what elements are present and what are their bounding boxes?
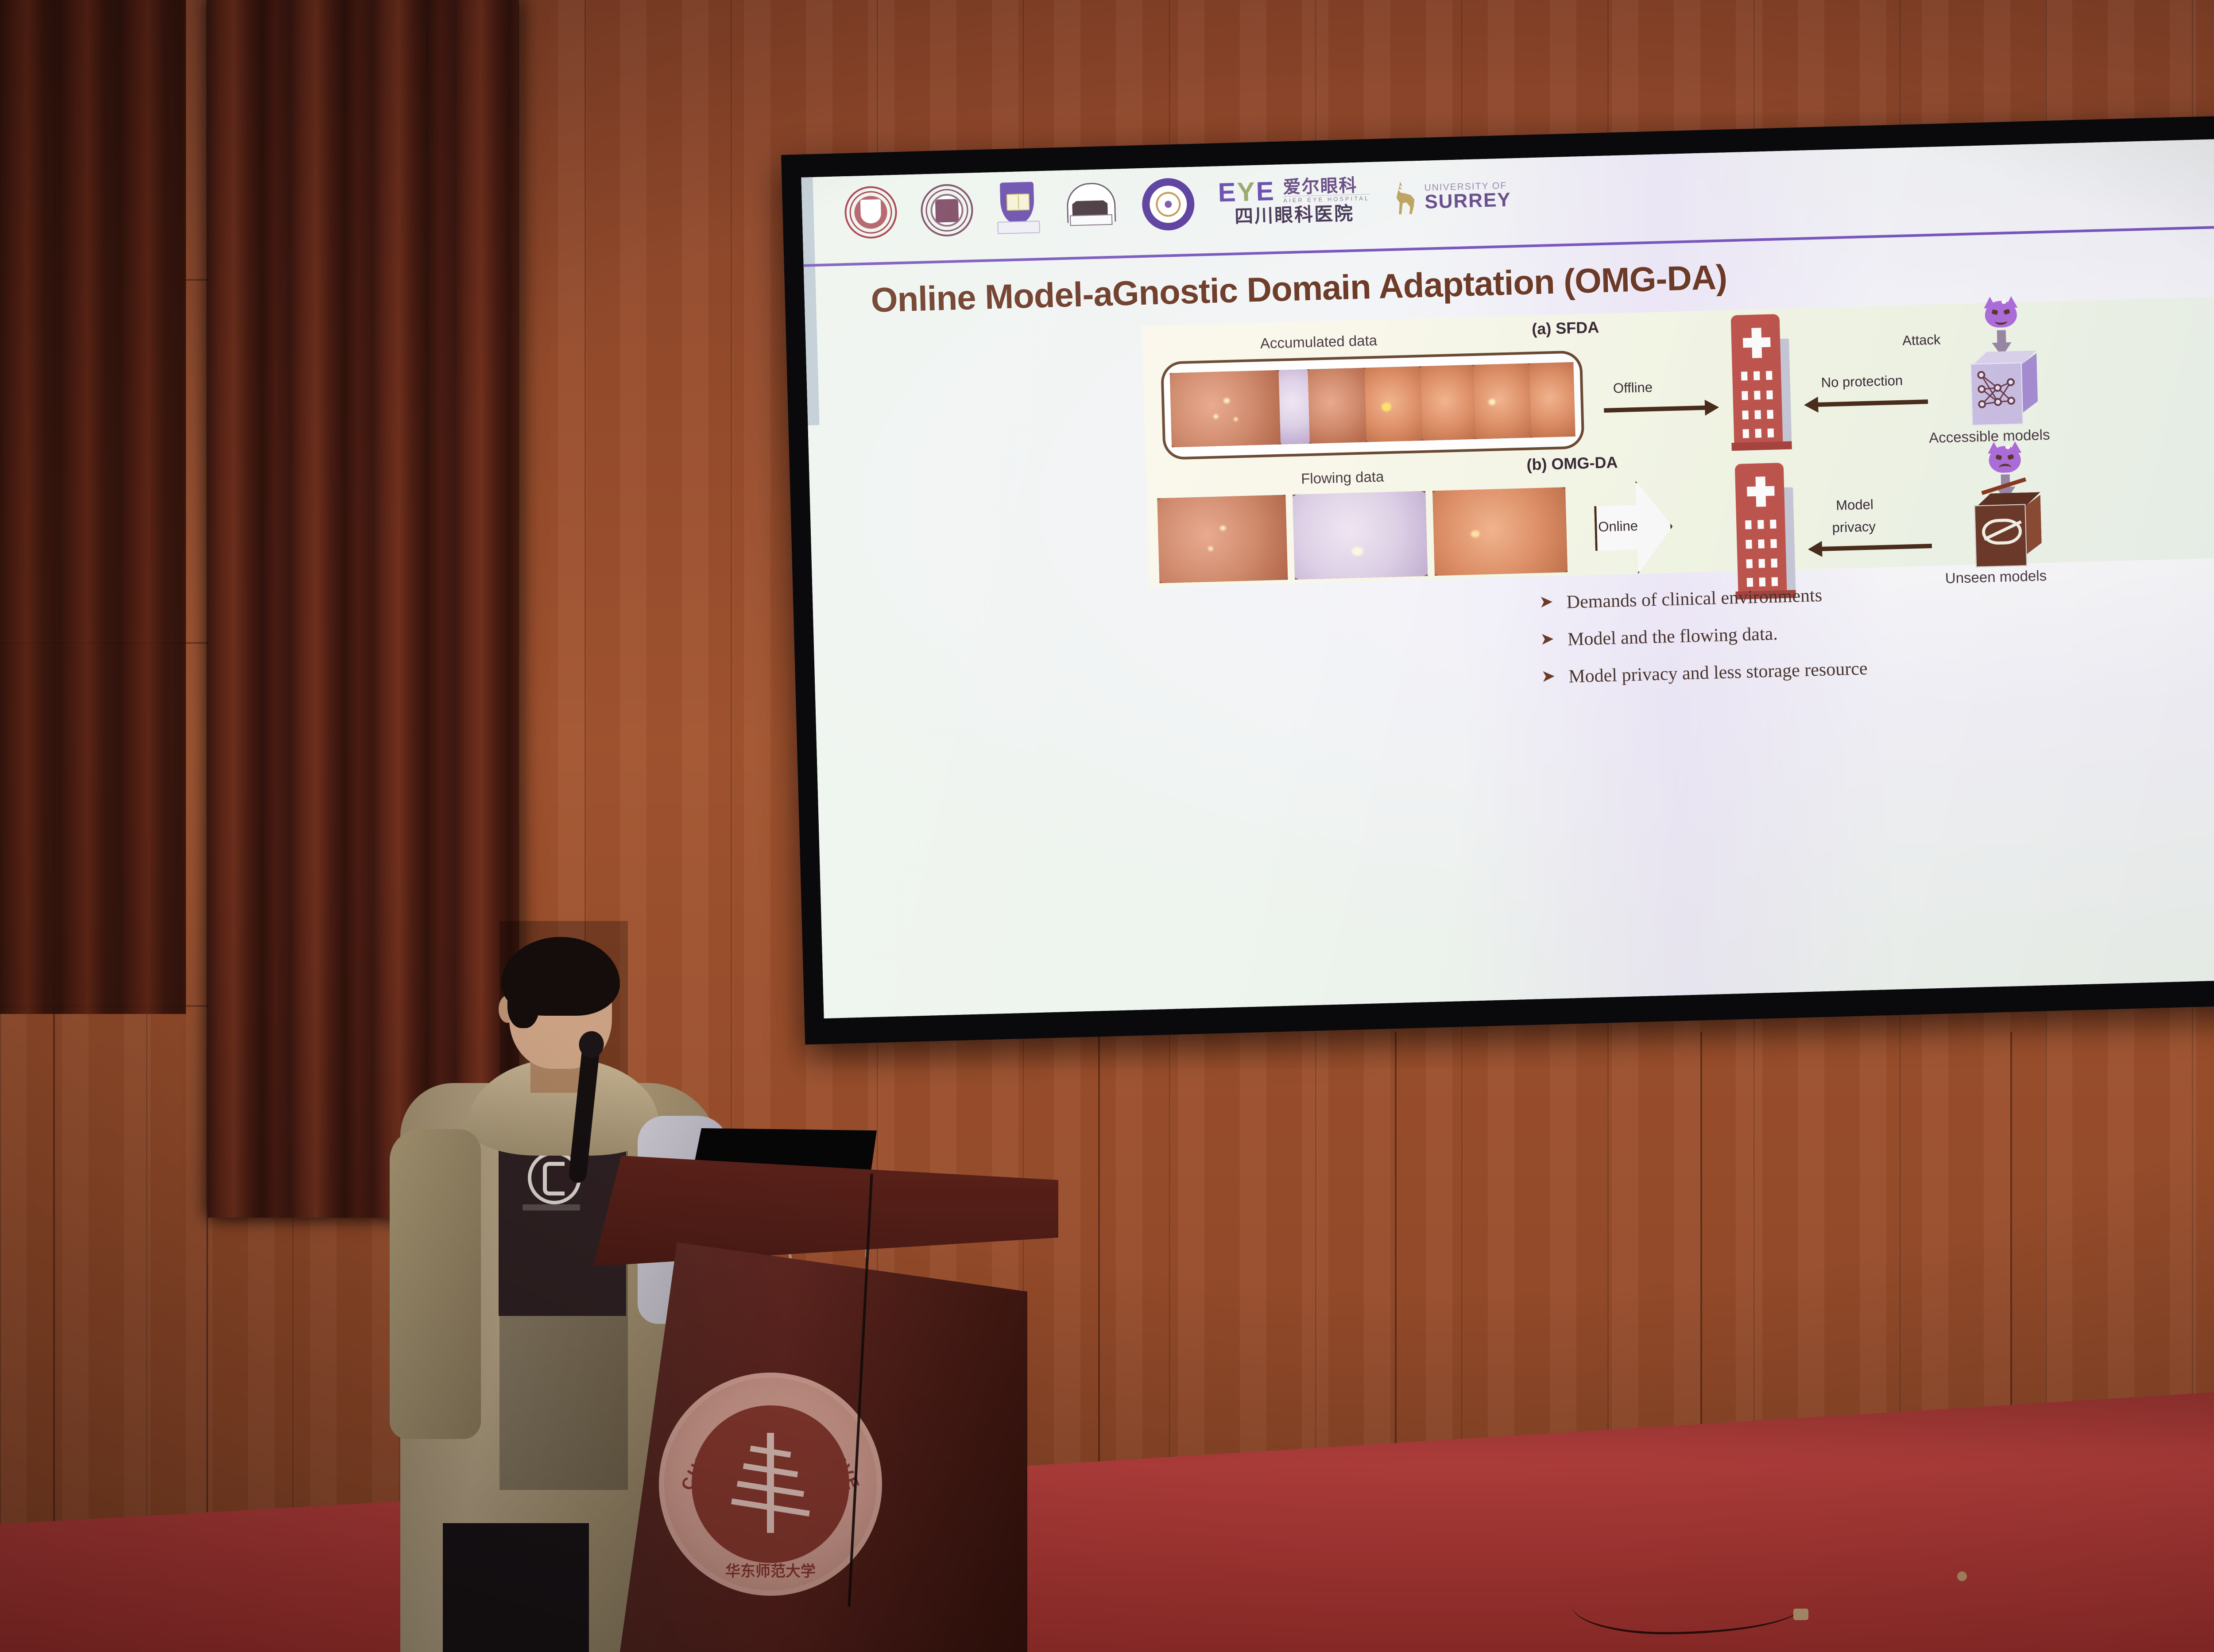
- accumulated-data-caption: Accumulated data: [1260, 332, 1377, 352]
- bullet-text: Model privacy and less storage resource: [1568, 659, 1868, 686]
- model-privacy-label-2: privacy: [1832, 518, 1876, 536]
- fundus-image: [1364, 366, 1422, 442]
- eye-wordmark: EYE: [1218, 178, 1276, 206]
- logo-aier-eye-hospital: EYE 爱尔眼科 AIER EYE HOSPITAL 四川眼科医院: [1218, 175, 1370, 226]
- angry-cat-icon: [1986, 441, 2024, 475]
- logo-shanghai-jiao-tong: [844, 186, 898, 239]
- projection-screen-frame: EYE 爱尔眼科 AIER EYE HOSPITAL 四川眼科医院: [781, 101, 2214, 1045]
- panel-a-label: (a) SFDA: [1532, 318, 1599, 338]
- fundus-image: [1308, 368, 1366, 444]
- stag-icon: [1393, 181, 1419, 214]
- podium: EAST CHINA NORMAL UNIVERSITY 华东师范大学: [593, 1156, 1058, 1652]
- logo-university-seal-dark: [920, 183, 974, 237]
- slide-canvas: EYE 爱尔眼科 AIER EYE HOSPITAL 四川眼科医院: [801, 124, 2214, 1018]
- list-item: ➤ Model and the flowing data.: [1540, 622, 1867, 650]
- tree-emblem-icon: [728, 1431, 813, 1537]
- sichuan-eye-hospital-label: 四川眼科医院: [1235, 204, 1355, 226]
- bullet-text: Model and the flowing data.: [1568, 625, 1778, 649]
- university-emblem: EAST CHINA NORMAL UNIVERSITY 华东师范大学: [659, 1373, 882, 1596]
- presentation-photo: EYE 爱尔眼科 AIER EYE HOSPITAL 四川眼科医院: [0, 0, 2214, 1652]
- list-item: ➤ Model privacy and less storage resourc…: [1541, 659, 1868, 687]
- online-label: Online: [1598, 518, 1638, 535]
- smiling-cat-icon: [1982, 296, 2020, 329]
- panel-b-label: (b) OMG-DA: [1526, 453, 1618, 474]
- fundus-image: [1420, 365, 1475, 441]
- no-protection-label: No protection: [1821, 373, 1903, 391]
- eye-off-icon: [1982, 518, 2022, 545]
- emblem-cn-text: 华东师范大学: [664, 1559, 877, 1581]
- stage-curtain-edge: [0, 0, 186, 1014]
- partner-logo-row: EYE 爱尔眼科 AIER EYE HOSPITAL 四川眼科医院: [844, 169, 1512, 239]
- fundus-image: [1529, 362, 1575, 438]
- aier-cn-label: 爱尔眼科: [1283, 176, 1370, 196]
- fundus-image: [1157, 495, 1288, 583]
- presenter-left-sleeve: [390, 1129, 481, 1439]
- accumulated-data-container: [1161, 350, 1585, 460]
- logo-university-of-surrey: UNIVERSITY OF SURREY: [1393, 178, 1511, 214]
- fundus-strip-accumulated: [1170, 362, 1575, 448]
- logo-gate-crest: [1061, 179, 1119, 233]
- fundus-image: [1473, 363, 1531, 439]
- unseen-models-caption: Unseen models: [1945, 567, 2047, 587]
- projection-screen: EYE 爱尔眼科 AIER EYE HOSPITAL 四川眼科医院: [801, 124, 2214, 1018]
- concept-diagram: (a) SFDA Accumulated data: [1142, 297, 2214, 587]
- tshirt-sublabel: [523, 1204, 580, 1211]
- fundus-image: [1279, 369, 1310, 445]
- model-privacy-arrow: [1821, 544, 1932, 551]
- neural-network-icon: [1976, 369, 2016, 410]
- attack-label: Attack: [1902, 332, 1941, 348]
- bullet-marker-icon: ➤: [1539, 593, 1553, 611]
- logo-uestc: [1142, 178, 1195, 231]
- model-privacy-label-1: Model: [1836, 497, 1873, 514]
- accessible-models-box: [1970, 350, 2038, 424]
- unseen-models-box: [1974, 492, 2042, 565]
- fundus-image: [1293, 491, 1428, 580]
- bullet-marker-icon: ➤: [1541, 668, 1556, 685]
- floor-marker: [1957, 1571, 1967, 1581]
- fundus-image: [1170, 370, 1281, 448]
- cable-connector: [1793, 1609, 1808, 1620]
- flowing-data-caption: Flowing data: [1301, 468, 1384, 487]
- fundus-strip-flowing: [1157, 487, 1584, 583]
- podium-top: [593, 1156, 1058, 1266]
- presenter-trousers: [443, 1523, 589, 1652]
- bullet-marker-icon: ➤: [1540, 631, 1555, 648]
- offline-arrow: [1604, 406, 1706, 413]
- offline-label: Offline: [1613, 379, 1653, 396]
- no-protection-arrow: [1817, 399, 1928, 407]
- online-arrow: Online: [1594, 480, 1674, 575]
- fundus-image: [1432, 487, 1568, 576]
- logo-purple-shield: [996, 182, 1038, 235]
- bullet-list: ➤ Demands of clinical environments ➤ Mod…: [1539, 585, 1868, 705]
- surrey-line2: SURREY: [1424, 190, 1511, 212]
